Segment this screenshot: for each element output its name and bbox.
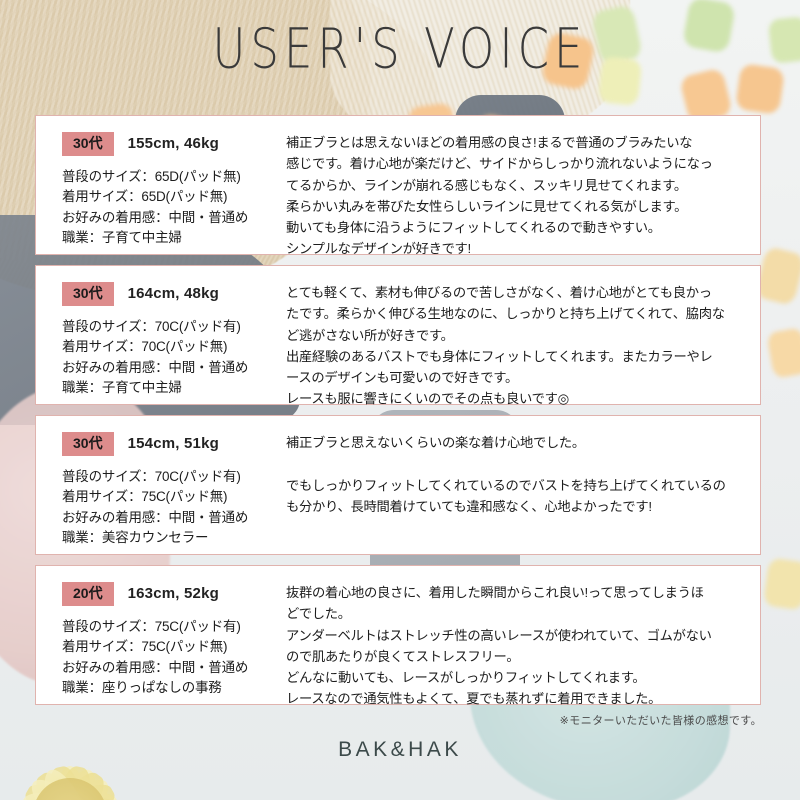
review-body: とても軽くて、素材も伸びるので苦しさがなく、着け心地がとても良かっ たです。柔ら… xyxy=(286,282,760,404)
review-text: 補正ブラとは思えないほどの着用感の良さ!まるで普通のブラみたいな 感じです。着け… xyxy=(286,132,742,260)
reviews-list: 30代 155cm, 46kg 普段のサイズ：65D(パッド無) 着用サイズ：6… xyxy=(35,115,761,715)
spec-worn-size: 着用サイズ：75C(パッド無) xyxy=(62,637,286,658)
reviewer-identity: 30代 155cm, 46kg xyxy=(62,132,286,156)
spec-occupation: 職業：美容カウンセラー xyxy=(62,528,286,549)
spec-worn-size: 着用サイズ：70C(パッド無) xyxy=(62,337,286,358)
age-badge: 20代 xyxy=(62,582,114,606)
spec-usual-size: 普段のサイズ：65D(パッド無) xyxy=(62,167,286,188)
spec-preferred-fit: お好みの着用感：中間・普通め xyxy=(62,658,286,679)
review-body: 補正ブラとは思えないほどの着用感の良さ!まるで普通のブラみたいな 感じです。着け… xyxy=(286,132,760,254)
reviewer-identity: 20代 163cm, 52kg xyxy=(62,582,286,606)
spec-occupation: 職業：子育て中主婦 xyxy=(62,228,286,249)
reviewer-identity: 30代 164cm, 48kg xyxy=(62,282,286,306)
brand-logo: BAK&HAK xyxy=(0,738,800,762)
measurements-text: 154cm, 51kg xyxy=(128,435,219,452)
spec-preferred-fit: お好みの着用感：中間・普通め xyxy=(62,358,286,379)
spec-occupation: 職業：子育て中主婦 xyxy=(62,378,286,399)
reviewer-profile: 30代 154cm, 51kg 普段のサイズ：70C(パッド有) 着用サイズ：7… xyxy=(36,432,286,554)
review-body: 抜群の着心地の良さに、着用した瞬間からこれ良い!って思ってしまうほ どでした。 … xyxy=(286,582,760,704)
review-text: 抜群の着心地の良さに、着用した瞬間からこれ良い!って思ってしまうほ どでした。 … xyxy=(286,582,742,710)
age-badge: 30代 xyxy=(62,432,114,456)
spec-preferred-fit: お好みの着用感：中間・普通め xyxy=(62,208,286,229)
age-badge: 30代 xyxy=(62,282,114,306)
measurements-text: 164cm, 48kg xyxy=(128,285,219,302)
review-body: 補正ブラと思えないくらいの楽な着け心地でした。 でもしっかりフィットしてくれてい… xyxy=(286,432,760,554)
age-badge: 30代 xyxy=(62,132,114,156)
spec-usual-size: 普段のサイズ：70C(パッド有) xyxy=(62,317,286,338)
spec-occupation: 職業：座りっぱなしの事務 xyxy=(62,678,286,699)
review-card: 30代 155cm, 46kg 普段のサイズ：65D(パッド無) 着用サイズ：6… xyxy=(35,115,761,255)
disclaimer-note: ※モニターいただいた皆様の感想です。 xyxy=(560,712,762,728)
review-card: 30代 164cm, 48kg 普段のサイズ：70C(パッド有) 着用サイズ：7… xyxy=(35,265,761,405)
reviewer-profile: 20代 163cm, 52kg 普段のサイズ：75C(パッド有) 着用サイズ：7… xyxy=(36,582,286,704)
spec-worn-size: 着用サイズ：75C(パッド無) xyxy=(62,487,286,508)
page-title: USER'S VOICE xyxy=(0,16,800,81)
review-text: とても軽くて、素材も伸びるので苦しさがなく、着け心地がとても良かっ たです。柔ら… xyxy=(286,282,742,410)
measurements-text: 155cm, 46kg xyxy=(128,135,219,152)
reviewer-profile: 30代 155cm, 46kg 普段のサイズ：65D(パッド無) 着用サイズ：6… xyxy=(36,132,286,254)
reviewer-identity: 30代 154cm, 51kg xyxy=(62,432,286,456)
reviewer-profile: 30代 164cm, 48kg 普段のサイズ：70C(パッド有) 着用サイズ：7… xyxy=(36,282,286,404)
review-text: 補正ブラと思えないくらいの楽な着け心地でした。 でもしっかりフィットしてくれてい… xyxy=(286,432,742,517)
spec-usual-size: 普段のサイズ：75C(パッド有) xyxy=(62,617,286,638)
measurements-text: 163cm, 52kg xyxy=(128,585,219,602)
review-card: 30代 154cm, 51kg 普段のサイズ：70C(パッド有) 着用サイズ：7… xyxy=(35,415,761,555)
spec-preferred-fit: お好みの着用感：中間・普通め xyxy=(62,508,286,529)
spec-worn-size: 着用サイズ：65D(パッド無) xyxy=(62,187,286,208)
spec-usual-size: 普段のサイズ：70C(パッド有) xyxy=(62,467,286,488)
review-card: 20代 163cm, 52kg 普段のサイズ：75C(パッド有) 着用サイズ：7… xyxy=(35,565,761,705)
